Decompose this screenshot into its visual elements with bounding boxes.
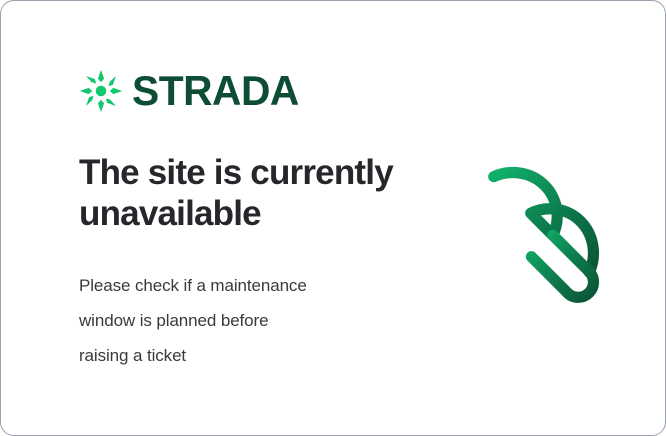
wrench-icon xyxy=(453,153,613,313)
brand-lockup: STRADA xyxy=(79,69,304,113)
brand-wordmark: STRADA xyxy=(132,70,299,112)
maintenance-notice-card: STRADA The site is currently unavailable… xyxy=(0,0,666,436)
page-title: The site is currently unavailable xyxy=(79,153,409,235)
description-line: raising a ticket xyxy=(79,339,389,374)
description-line: window is planned before xyxy=(79,304,389,339)
strada-starburst-icon xyxy=(79,69,123,113)
description-line: Please check if a maintenance xyxy=(79,269,389,304)
page-description: Please check if a maintenance window is … xyxy=(79,269,389,374)
